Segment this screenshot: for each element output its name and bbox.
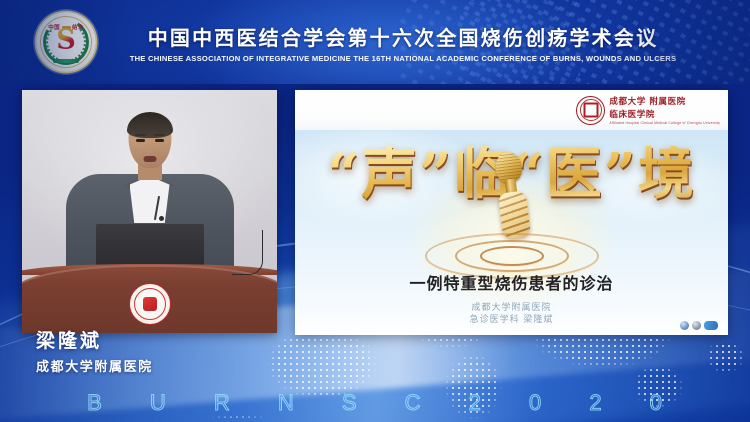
hospital-logo-line3: 临床医学院 <box>609 108 720 120</box>
slide-subtitle: 一例特重型烧伤患者的诊治 <box>295 270 728 294</box>
speaker-nameplate: 梁隆斌 成都大学附属医院 <box>0 320 300 388</box>
hospital-logo-line1: 成都大学 <box>609 97 645 107</box>
presentation-slide[interactable]: 成都大学 附属医院 临床医学院 Affiliated Hospital Clin… <box>295 90 728 335</box>
podium-cable <box>232 230 263 275</box>
badge-icon-3 <box>704 321 718 330</box>
speaker-eye-right <box>155 139 164 142</box>
conference-header-banner: 中国结合 S 中国中西医结合学会第十六次全国烧伤创疡学术会议 THE CHINE… <box>0 0 750 84</box>
slide-header-bar: 成都大学 附属医院 临床医学院 Affiliated Hospital Clin… <box>295 90 728 130</box>
hospital-logo-en: Affiliated Hospital Clinical Medical Col… <box>609 121 720 125</box>
speaker-video-panel[interactable] <box>22 90 277 333</box>
badge-icon-1 <box>680 321 689 330</box>
hospital-logo-line2: 附属医院 <box>649 97 685 107</box>
speaker-organization: 成都大学附属医院 <box>36 356 153 375</box>
conference-stream-stage: 中国结合 S 中国中西医结合学会第十六次全国烧伤创疡学术会议 THE CHINE… <box>0 0 750 422</box>
hospital-logo: 成都大学 附属医院 临床医学院 Affiliated Hospital Clin… <box>576 94 720 126</box>
speaker-mouth <box>143 156 156 162</box>
speaker-shirt <box>130 176 170 230</box>
slide-footer-badges <box>680 321 718 330</box>
lapel-microphone-tip <box>159 216 164 221</box>
event-wordmark: B U R N S C 2 0 2 0 <box>0 390 750 416</box>
speaker-name: 梁隆斌 <box>36 326 102 353</box>
podium-emblem-icon <box>129 283 171 325</box>
laptop-on-podium <box>96 223 204 267</box>
slide-content: “声”临“医”境 一例特重型烧伤患者的诊治 成都大学附属医院 急诊医学科 梁隆斌 <box>295 130 728 335</box>
hospital-logo-icon <box>576 96 605 125</box>
conference-title-cn: 中国中西医结合学会第十六次全国烧伤创疡学术会议 <box>0 22 750 51</box>
conference-title-en: THE CHINESE ASSOCIATION OF INTEGRATIVE M… <box>0 54 750 63</box>
badge-icon-2 <box>692 321 701 330</box>
slide-affiliation-line2: 急诊医学科 梁隆斌 <box>295 312 728 325</box>
speaker-eye-left <box>136 139 145 142</box>
